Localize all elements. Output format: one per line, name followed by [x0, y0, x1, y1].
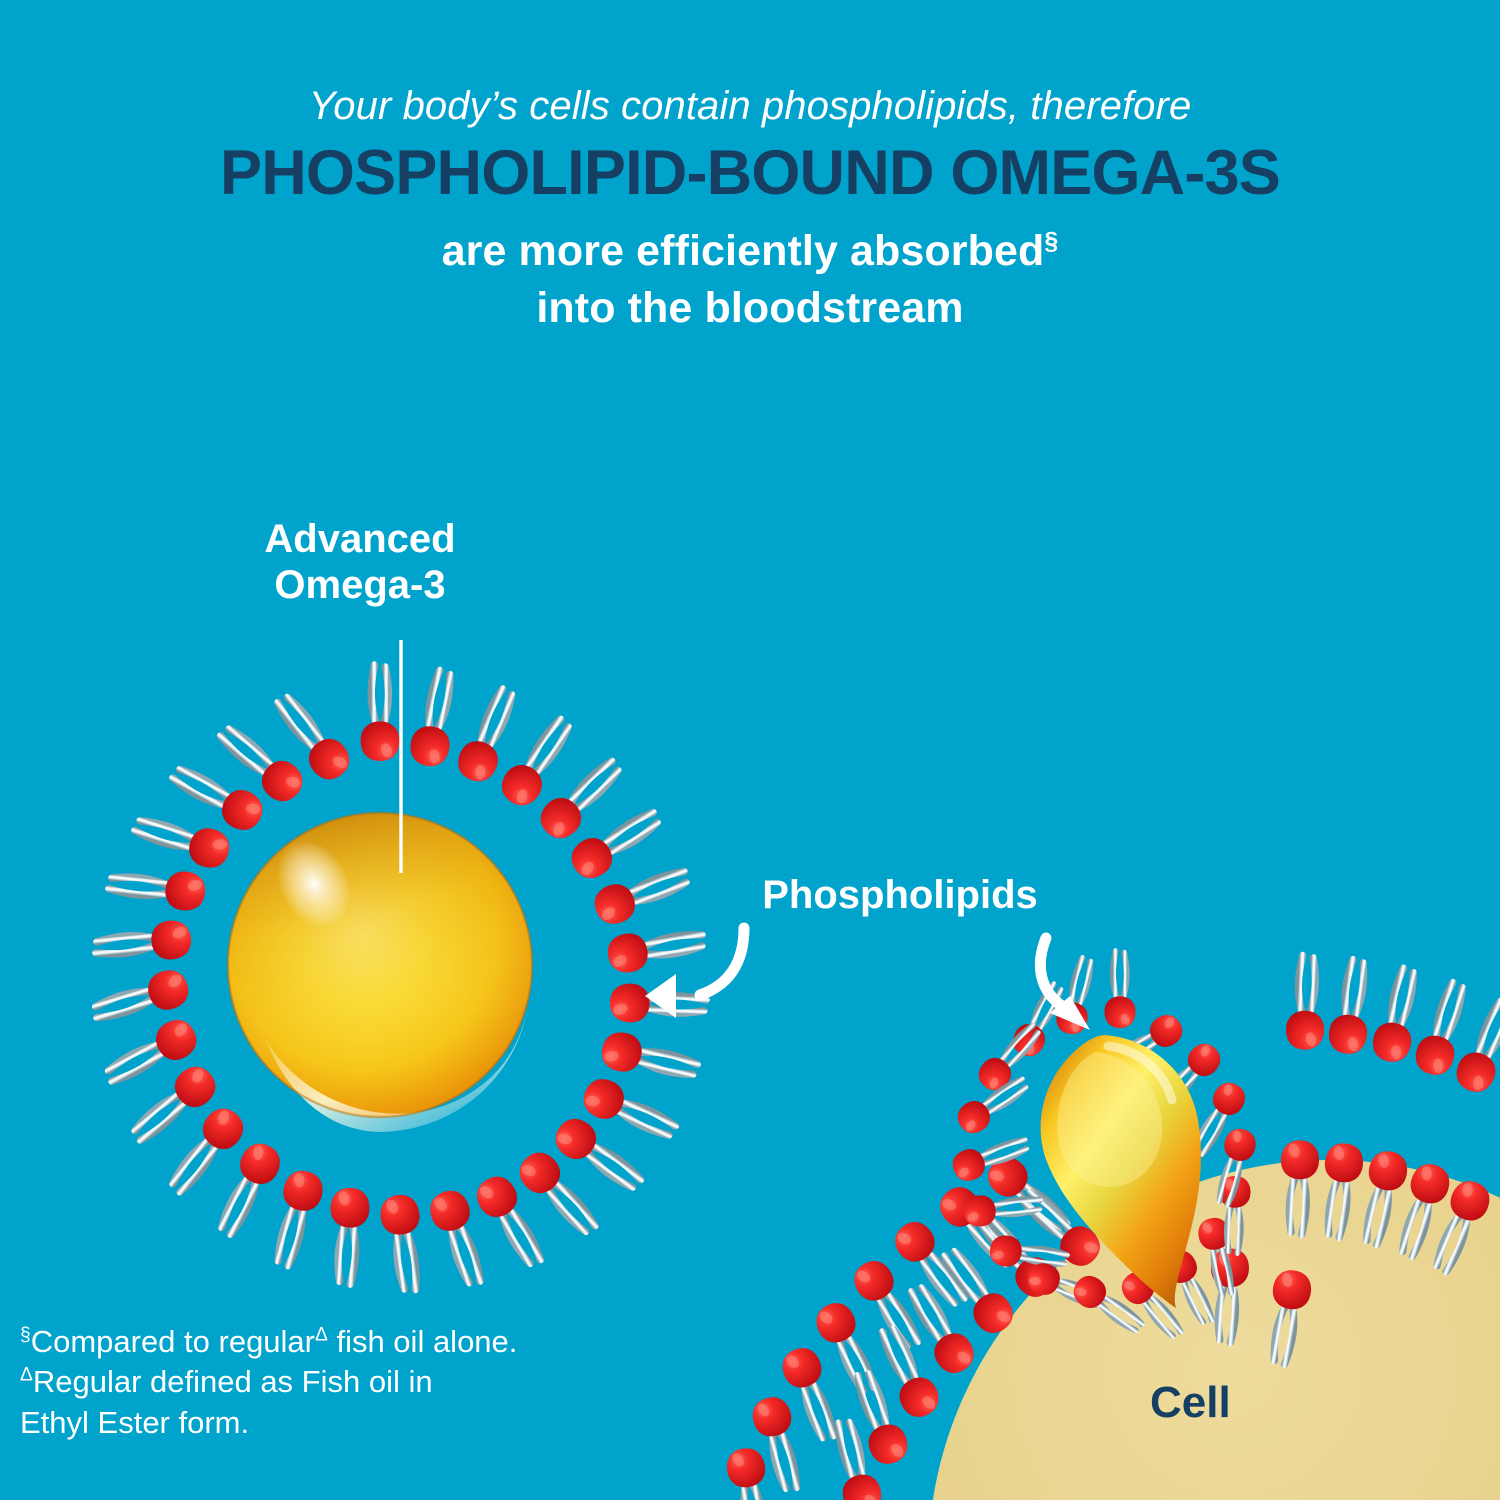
omega3-oil-core [228, 813, 532, 1132]
subheadline-line-2: into the bloodstream [536, 284, 963, 332]
header-block: Your body’s cells contain phospholipids,… [0, 86, 1500, 337]
subheadline-line-1: are more efficiently absorbed [442, 227, 1045, 275]
footnote-line-1-end: fish oil alone. [328, 1324, 518, 1359]
eyebrow-text: Your body’s cells contain phospholipids,… [0, 86, 1500, 126]
footnote-line-1-text: Compared to regular [31, 1324, 315, 1359]
label-advanced-omega3-line-1: Advanced [264, 517, 455, 561]
footnote-block: §Compared to regularΔ fish oil alone. ΔR… [20, 1322, 720, 1443]
footnote-line-2-text: Regular defined as Fish oil in [33, 1364, 433, 1399]
subheadline-footnote-marker: § [1044, 228, 1058, 256]
footnote-line-3: Ethyl Ester form. [20, 1403, 720, 1443]
large-liposome [90, 665, 707, 1293]
subheadline: are more efficiently absorbed§into the b… [0, 223, 1500, 337]
footnote-marker-section: § [20, 1325, 31, 1346]
page-title: PHOSPHOLIPID-BOUND OMEGA-3S [0, 142, 1500, 205]
footnote-marker-delta: Δ [315, 1325, 328, 1346]
infographic-poster: Your body’s cells contain phospholipids,… [0, 0, 1500, 1500]
label-cell: Cell [1150, 1378, 1231, 1428]
footnote-line-1: §Compared to regularΔ fish oil alone. [20, 1322, 720, 1362]
label-advanced-omega3-line-2: Omega-3 [274, 563, 445, 607]
footnote-marker-delta-2: Δ [20, 1365, 33, 1386]
label-advanced-omega3: Advanced Omega-3 [190, 516, 530, 609]
footnote-line-2: ΔRegular defined as Fish oil in [20, 1362, 720, 1402]
label-phospholipids: Phospholipids [650, 872, 1150, 918]
